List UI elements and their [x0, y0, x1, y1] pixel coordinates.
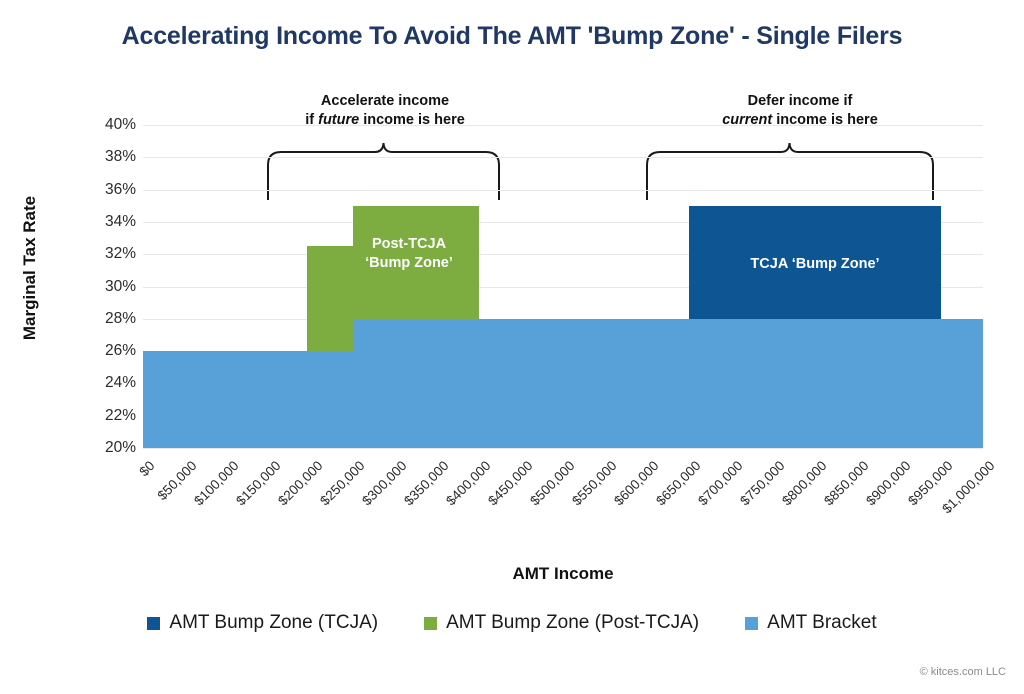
y-tick: 34% — [64, 213, 136, 231]
x-tick: $500,000 — [527, 458, 577, 508]
x-tick: $750,000 — [737, 458, 787, 508]
x-tick: $150,000 — [233, 458, 283, 508]
x-axis: $0 $50,000 $100,000 $150,000 $200,000 $2… — [143, 452, 983, 562]
x-tick: $300,000 — [359, 458, 409, 508]
x-tick-label: $150,000 — [233, 458, 283, 508]
x-tick: $850,000 — [821, 458, 871, 508]
gridline — [143, 448, 983, 449]
y-tick: 28% — [64, 310, 136, 328]
callout-accelerate-line1: Accelerate income — [255, 92, 515, 111]
y-tick: 20% — [64, 439, 136, 457]
x-tick: $0 — [136, 458, 157, 479]
x-tick-label: $350,000 — [401, 458, 451, 508]
x-tick-label: $750,000 — [737, 458, 787, 508]
legend-label: AMT Bracket — [767, 612, 876, 634]
tcja-bump-zone-segment — [689, 206, 941, 319]
x-tick-label: $650,000 — [653, 458, 703, 508]
x-tick-label: $450,000 — [485, 458, 535, 508]
gridline — [143, 190, 983, 191]
y-tick: 26% — [64, 342, 136, 360]
x-tick: $100,000 — [191, 458, 241, 508]
x-tick: $350,000 — [401, 458, 451, 508]
x-tick: $900,000 — [863, 458, 913, 508]
y-axis: 40% 38% 36% 34% 32% 30% 28% 26% 24% 22% … — [64, 125, 136, 448]
legend-item-amt-bracket[interactable]: AMT Bracket — [745, 612, 876, 634]
x-tick-label: $200,000 — [275, 458, 325, 508]
amt-bracket-segment-1 — [143, 351, 311, 448]
legend-swatch-icon — [147, 617, 160, 630]
y-tick: 22% — [64, 407, 136, 425]
legend-label: AMT Bump Zone (Post-TCJA) — [446, 612, 699, 634]
x-tick: $600,000 — [611, 458, 661, 508]
y-tick: 30% — [64, 278, 136, 296]
x-tick: $200,000 — [275, 458, 325, 508]
x-tick: $700,000 — [695, 458, 745, 508]
y-tick: 36% — [64, 181, 136, 199]
chart-legend: AMT Bump Zone (TCJA) AMT Bump Zone (Post… — [0, 612, 1024, 634]
legend-label: AMT Bump Zone (TCJA) — [169, 612, 378, 634]
x-tick-label: $550,000 — [569, 458, 619, 508]
x-tick-label: $700,000 — [695, 458, 745, 508]
x-tick: $650,000 — [653, 458, 703, 508]
x-tick-label: $250,000 — [317, 458, 367, 508]
y-axis-title: Marginal Tax Rate — [20, 188, 40, 348]
plot-area: Post-TCJA ‘Bump Zone’ TCJA ‘Bump Zone’ — [143, 125, 983, 448]
x-tick-label: $400,000 — [443, 458, 493, 508]
x-tick: $800,000 — [779, 458, 829, 508]
post-tcja-bump-zone-segment-1 — [307, 246, 353, 351]
y-tick: 32% — [64, 245, 136, 263]
y-tick: 38% — [64, 148, 136, 166]
legend-swatch-icon — [745, 617, 758, 630]
x-tick-label: $0 — [136, 458, 157, 479]
x-tick: $400,000 — [443, 458, 493, 508]
x-tick-label: $300,000 — [359, 458, 409, 508]
callout-defer-line1: Defer income if — [655, 92, 945, 111]
x-tick-label: $600,000 — [611, 458, 661, 508]
y-tick: 40% — [64, 116, 136, 134]
x-tick: $250,000 — [317, 458, 367, 508]
x-axis-title: AMT Income — [143, 564, 983, 584]
post-tcja-bump-zone-segment-2 — [353, 206, 479, 319]
gridline — [143, 157, 983, 158]
x-tick-label: $850,000 — [821, 458, 871, 508]
x-tick: $450,000 — [485, 458, 535, 508]
y-tick: 24% — [64, 374, 136, 392]
x-tick-label: $800,000 — [779, 458, 829, 508]
legend-item-tcja-bump-zone[interactable]: AMT Bump Zone (TCJA) — [147, 612, 378, 634]
copyright-footer: © kitces.com LLC — [920, 666, 1006, 678]
chart-title: Accelerating Income To Avoid The AMT 'Bu… — [0, 22, 1024, 51]
amt-bracket-segment-2 — [311, 319, 983, 448]
gridline — [143, 125, 983, 126]
x-tick-label: $100,000 — [191, 458, 241, 508]
x-tick: $550,000 — [569, 458, 619, 508]
legend-item-post-tcja-bump-zone[interactable]: AMT Bump Zone (Post-TCJA) — [424, 612, 699, 634]
x-tick-label: $500,000 — [527, 458, 577, 508]
legend-swatch-icon — [424, 617, 437, 630]
x-tick-label: $900,000 — [863, 458, 913, 508]
